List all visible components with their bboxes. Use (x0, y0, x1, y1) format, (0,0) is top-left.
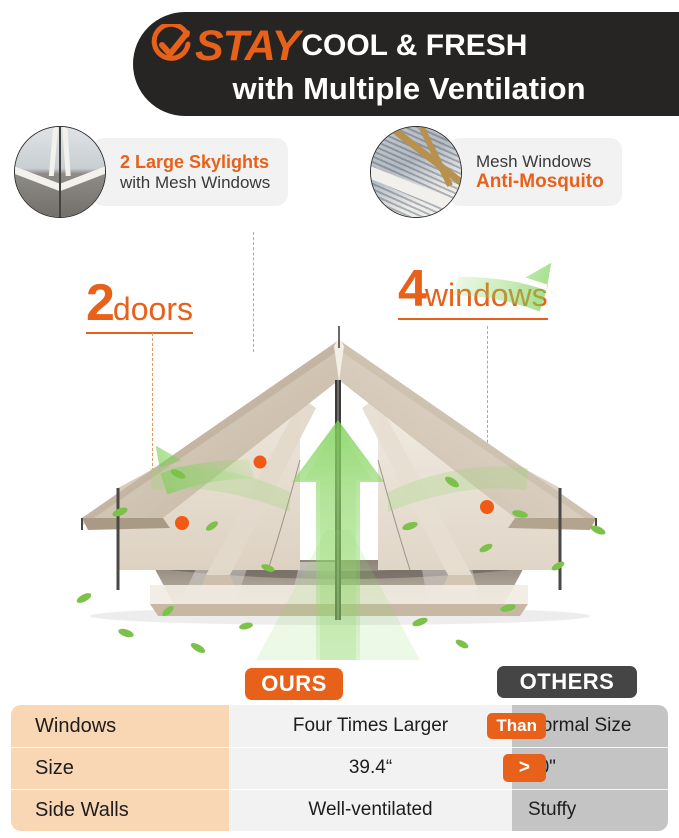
row-comparison-badge: Than (487, 713, 546, 739)
comparison-table: Windows Four Times Larger Than Normal Si… (11, 705, 668, 831)
others-badge: OTHERS (497, 666, 637, 698)
callout-mesh-text: Mesh Windows Anti-Mosquito (448, 138, 622, 206)
banner-headline-row: STAY COOL & FRESH (149, 22, 679, 70)
callout-mesh: Mesh Windows Anti-Mosquito (370, 126, 622, 218)
row-ours-value: Four Times Larger (229, 715, 512, 737)
callout-mesh-line1: Mesh Windows (476, 152, 604, 171)
skylight-photo (14, 126, 106, 218)
tent-illustration (0, 230, 679, 660)
callout-skylights-line1: 2 Large Skylights (120, 152, 270, 172)
callout-skylights-text: 2 Large Skylights with Mesh Windows (92, 138, 288, 206)
callout-skylights-line2: with Mesh Windows (120, 173, 270, 192)
row-ours-value-cell: 39.4“ > (229, 757, 512, 779)
callout-skylights: 2 Large Skylights with Mesh Windows (14, 126, 288, 218)
circle-check-icon (149, 24, 193, 68)
row-ours-value-cell: Well-ventilated (229, 799, 512, 821)
header-banner: STAY COOL & FRESH with Multiple Ventilat… (133, 12, 679, 116)
row-ours-value-cell: Four Times Larger Than (229, 715, 512, 737)
banner-word-cool-fresh: COOL & FRESH (301, 31, 527, 62)
row-label: Side Walls (11, 799, 229, 822)
row-ours-value: Well-ventilated (229, 799, 512, 821)
row-ours-value: 39.4“ (229, 757, 512, 779)
table-row: Windows Four Times Larger Than Normal Si… (11, 705, 668, 747)
ours-badge: OURS (245, 668, 343, 700)
row-label: Windows (11, 715, 229, 738)
row-comparison-badge: > (503, 754, 546, 782)
mesh-window-photo (370, 126, 462, 218)
callout-mesh-line2: Anti-Mosquito (476, 171, 604, 192)
table-row: Size 39.4“ > 20" (11, 747, 668, 789)
table-row: Side Walls Well-ventilated Stuffy (11, 789, 668, 831)
banner-word-stay: STAY (195, 25, 299, 68)
banner-subtitle: with Multiple Ventilation (149, 73, 679, 106)
row-label: Size (11, 757, 229, 780)
row-others-value: Stuffy (512, 799, 668, 821)
